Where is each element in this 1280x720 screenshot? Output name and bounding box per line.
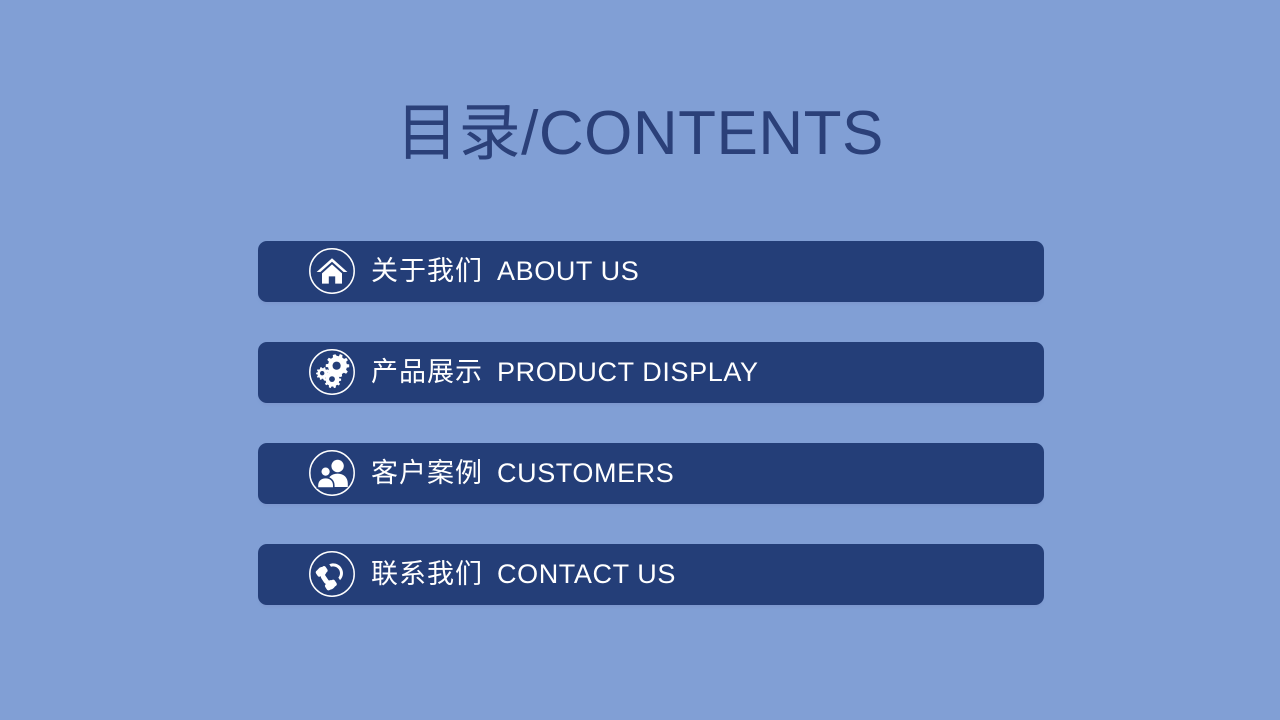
contents-list: 关于我们ABOUT US [258,241,1044,605]
list-item-label: 产品展示PRODUCT DISPLAY [371,342,759,403]
list-item-label: 联系我们CONTACT US [371,544,676,605]
list-item-label-en: CUSTOMERS [497,458,674,488]
people-icon [308,449,356,497]
home-icon [308,247,356,295]
list-item-label-en: PRODUCT DISPLAY [497,357,759,387]
page-title: 目录/CONTENTS [0,96,1280,172]
list-item[interactable]: 产品展示PRODUCT DISPLAY [258,342,1044,403]
list-item-label-en: CONTACT US [497,559,676,589]
list-item-label: 客户案例CUSTOMERS [371,443,674,504]
list-item-label-cn: 产品展示 [371,357,483,387]
gears-icon [308,348,356,396]
list-item[interactable]: 联系我们CONTACT US [258,544,1044,605]
list-item-label-en: ABOUT US [497,256,639,286]
list-item-label: 关于我们ABOUT US [371,241,639,302]
list-item[interactable]: 客户案例CUSTOMERS [258,443,1044,504]
contents-slide: 目录/CONTENTS 关于我们ABOUT US [0,0,1280,720]
list-item-label-cn: 联系我们 [371,559,483,589]
phone-icon [308,550,356,598]
list-item-label-cn: 客户案例 [371,458,483,488]
list-item[interactable]: 关于我们ABOUT US [258,241,1044,302]
list-item-label-cn: 关于我们 [371,256,483,286]
